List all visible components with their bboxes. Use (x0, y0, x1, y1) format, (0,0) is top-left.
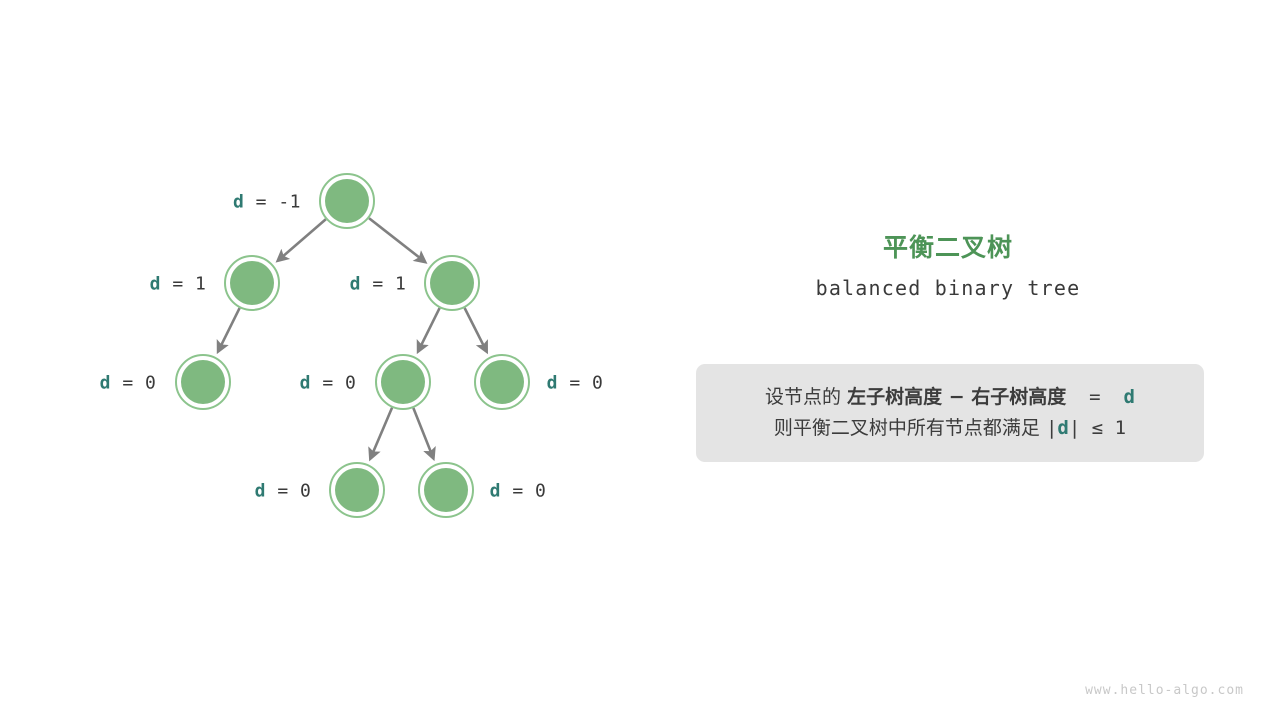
node-balance-label: d = 1 (350, 274, 407, 295)
node-fill (424, 468, 468, 512)
balance-variable: d (350, 274, 361, 295)
formula-minus: − (942, 386, 971, 408)
node-fill (230, 261, 274, 305)
node-balance-label: d = 0 (490, 481, 547, 502)
node-balance-label: d = 1 (150, 274, 207, 295)
node-fill (430, 261, 474, 305)
formula-bound: ≤ 1 (1080, 417, 1126, 439)
node-balance-label: d = -1 (233, 192, 301, 213)
formula-abs-close: | (1069, 417, 1080, 439)
balance-value: = 0 (111, 373, 156, 394)
node-fill (181, 360, 225, 404)
formula-abs-open: | (1046, 417, 1057, 439)
balance-value: = 0 (558, 373, 603, 394)
tree-diagram: d = -1d = 1d = 1d = 0d = 0d = 0d = 0d = … (0, 0, 660, 720)
node-layer (176, 174, 529, 517)
node-balance-label: d = 0 (255, 481, 312, 502)
tree-node (330, 463, 384, 517)
balance-value: = 1 (361, 274, 406, 295)
tree-node (425, 256, 479, 310)
balance-variable: d (150, 274, 161, 295)
balance-value: = 0 (501, 481, 546, 502)
formula-left-subtree-height: 左子树高度 (847, 386, 942, 408)
balance-variable: d (547, 373, 558, 394)
tree-node (225, 256, 279, 310)
info-panel: 平衡二叉树 balanced binary tree 设节点的 左子树高度 − … (660, 0, 1280, 720)
tree-edge (371, 408, 393, 458)
formula-d-variable: d (1123, 386, 1134, 408)
tree-node (176, 355, 230, 409)
formula-prefix: 设节点的 (765, 386, 847, 408)
balance-variable: d (300, 373, 311, 394)
balance-variable: d (100, 373, 111, 394)
balance-variable: d (255, 481, 266, 502)
tree-node (320, 174, 374, 228)
balance-value: = 0 (311, 373, 356, 394)
balance-value: = -1 (244, 192, 301, 213)
node-fill (325, 179, 369, 223)
tree-edge (278, 219, 326, 260)
tree-edge (413, 408, 433, 458)
page-title: 平衡二叉树 (660, 228, 1236, 264)
balance-value: = 0 (266, 481, 311, 502)
formula-box: 设节点的 左子树高度 − 右子树高度 = d 则平衡二叉树中所有节点都满足 |d… (696, 364, 1204, 462)
node-balance-label: d = 0 (547, 373, 604, 394)
node-fill (480, 360, 524, 404)
node-fill (335, 468, 379, 512)
tree-graphics (0, 0, 660, 720)
formula-condition-prefix: 则平衡二叉树中所有节点都满足 (774, 417, 1046, 439)
node-balance-label: d = 0 (100, 373, 157, 394)
tree-edge (418, 308, 439, 351)
tree-node (376, 355, 430, 409)
tree-node (419, 463, 473, 517)
formula-equals: = (1066, 386, 1123, 408)
page-subtitle: balanced binary tree (660, 276, 1236, 300)
tree-node (475, 355, 529, 409)
balance-variable: d (233, 192, 244, 213)
edge-layer (218, 218, 486, 458)
balance-value: = 1 (161, 274, 206, 295)
balance-variable: d (490, 481, 501, 502)
node-balance-label: d = 0 (300, 373, 357, 394)
tree-edge (465, 308, 487, 351)
tree-edge (218, 308, 239, 351)
formula-line-2: 则平衡二叉树中所有节点都满足 |d| ≤ 1 (696, 413, 1204, 444)
node-fill (381, 360, 425, 404)
watermark: www.hello-algo.com (1085, 683, 1244, 698)
formula-line-1: 设节点的 左子树高度 − 右子树高度 = d (696, 382, 1204, 413)
formula-right-subtree-height: 右子树高度 (971, 386, 1066, 408)
formula-d-variable-abs: d (1057, 417, 1068, 439)
tree-edge (369, 218, 425, 262)
